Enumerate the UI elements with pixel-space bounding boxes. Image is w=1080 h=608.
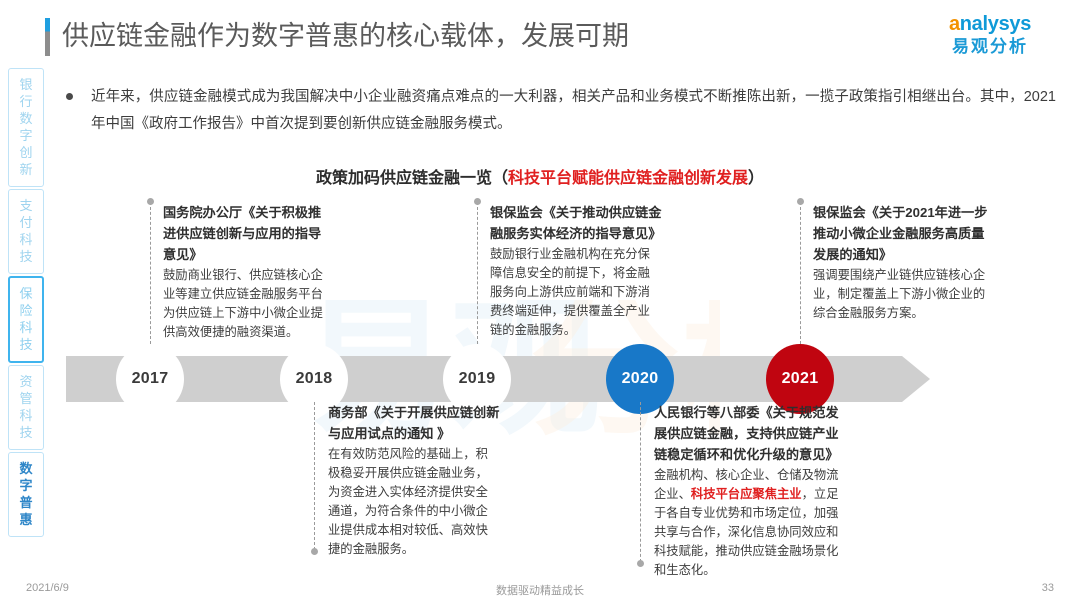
brand-logo-cn: 易观分析	[926, 36, 1054, 58]
timeline-event-body: 鼓励银行业金融机构在充分保障信息安全的前提下，将金融服务向上游供应前端和下游消费…	[490, 245, 662, 340]
connector-2020	[640, 402, 641, 562]
sidebar-item-label: 银行数字创新	[9, 76, 43, 178]
chart-title-highlight: 科技平台赋能供应链金融创新发展	[508, 170, 748, 187]
timeline-event-body: 强调要围绕产业链供应链核心企业，制定覆盖上下游小微企业的综合金融服务方案。	[813, 266, 991, 323]
timeline-event-2018: 商务部《关于开展供应链创新与应用试点的通知 》 在有效防范风险的基础上，积极稳妥…	[328, 402, 500, 559]
timeline-event-title: 银保监会《关于2021年进一步推动小微企业金融服务高质量发展的通知》	[813, 202, 991, 265]
page-title: 供应链金融作为数字普惠的核心载体，发展可期	[45, 18, 629, 56]
chart-title-main: 政策加码供应链金融一览（	[316, 170, 508, 187]
timeline-marker-2017[interactable]: 2017	[116, 344, 184, 414]
timeline-axis-arrowhead	[902, 356, 930, 402]
timeline-chart: 2017 2018 2019 2020 2021 国务院办公厅《关于积极推进供应…	[0, 190, 1080, 570]
sidebar: 银行数字创新 支付科技 保险科技 资管科技 数字普惠	[8, 68, 44, 539]
brand-logo: analysys 易观分析	[926, 12, 1054, 64]
sidebar-item-label: 保险科技	[10, 285, 42, 353]
timeline-event-body-highlight: 科技平台应聚焦主业	[691, 487, 802, 501]
connector-2018	[314, 402, 315, 550]
timeline-event-2020: 人民银行等八部委《关于规范发展供应链金融，支持供应链产业链稳定循环和优化升级的意…	[654, 402, 849, 580]
brand-logo-text: nalysys	[960, 13, 1031, 35]
connector-dot-2018	[311, 548, 318, 555]
sidebar-item-asset-management[interactable]: 资管科技	[8, 365, 44, 450]
connector-dot-2020	[637, 560, 644, 567]
timeline-event-2017: 国务院办公厅《关于积极推进供应链创新与应用的指导意见》 鼓励商业银行、供应链核心…	[163, 202, 325, 342]
sidebar-item-banking[interactable]: 银行数字创新	[8, 68, 44, 187]
brand-logo-swoosh: a	[949, 13, 960, 35]
connector-2019	[477, 202, 478, 344]
timeline-event-title: 银保监会《关于推动供应链金融服务实体经济的指导意见》	[490, 202, 662, 244]
sidebar-item-insurance[interactable]: 保险科技	[8, 276, 44, 363]
timeline-marker-label: 2018	[296, 370, 333, 388]
connector-dot-2019	[474, 198, 481, 205]
timeline-event-body: 在有效防范风险的基础上，积极稳妥开展供应链金融业务，为资金进入实体经济提供安全通…	[328, 445, 500, 559]
title-accent-bar	[45, 18, 50, 56]
chart-title: 政策加码供应链金融一览（科技平台赋能供应链金融创新发展）	[0, 164, 1080, 188]
timeline-event-2019: 银保监会《关于推动供应链金融服务实体经济的指导意见》 鼓励银行业金融机构在充分保…	[490, 202, 662, 340]
timeline-marker-label: 2020	[622, 370, 659, 388]
timeline-event-title: 国务院办公厅《关于积极推进供应链创新与应用的指导意见》	[163, 202, 325, 265]
slide-canvas: 易观 分析 analysys 易观分析 供应链金融作为数字普惠的核心载体，发展可…	[0, 0, 1080, 608]
intro-paragraph: 近年来，供应链金融模式成为我国解决中小企业融资痛点难点的一大利器，相关产品和业务…	[66, 84, 1056, 138]
connector-dot-2017	[147, 198, 154, 205]
footer-tagline: 数据驱动精益成长	[0, 582, 1080, 598]
footer-page-number: 33	[1042, 582, 1054, 594]
timeline-marker-label: 2017	[132, 370, 169, 388]
timeline-event-body: 鼓励商业银行、供应链核心企业等建立供应链金融服务平台为供应链上下游中小微企业提供…	[163, 266, 325, 342]
sidebar-item-digital-inclusive[interactable]: 数字普惠	[8, 452, 44, 537]
bullet-icon	[66, 93, 73, 100]
timeline-event-2021: 银保监会《关于2021年进一步推动小微企业金融服务高质量发展的通知》 强调要围绕…	[813, 202, 991, 323]
timeline-event-title: 人民银行等八部委《关于规范发展供应链金融，支持供应链产业链稳定循环和优化升级的意…	[654, 402, 849, 465]
chart-title-tail: ）	[748, 170, 764, 187]
sidebar-item-payment[interactable]: 支付科技	[8, 189, 44, 274]
brand-logo-wordmark: analysys	[926, 12, 1054, 36]
sidebar-item-label: 数字普惠	[9, 460, 43, 528]
timeline-event-title: 商务部《关于开展供应链创新与应用试点的通知 》	[328, 402, 500, 444]
connector-2017	[150, 202, 151, 344]
timeline-event-body: 金融机构、核心企业、仓储及物流企业、科技平台应聚焦主业，立足于各自专业优势和市场…	[654, 466, 849, 580]
timeline-marker-label: 2019	[459, 370, 496, 388]
sidebar-item-label: 资管科技	[9, 373, 43, 441]
footer: 2021/6/9 数据驱动精益成长 33	[0, 582, 1080, 600]
sidebar-item-label: 支付科技	[9, 197, 43, 265]
intro-text: 近年来，供应链金融模式成为我国解决中小企业融资痛点难点的一大利器，相关产品和业务…	[91, 84, 1056, 138]
connector-2021	[800, 202, 801, 344]
connector-dot-2021	[797, 198, 804, 205]
page-title-text: 供应链金融作为数字普惠的核心载体，发展可期	[62, 18, 629, 54]
timeline-marker-label: 2021	[782, 370, 819, 388]
